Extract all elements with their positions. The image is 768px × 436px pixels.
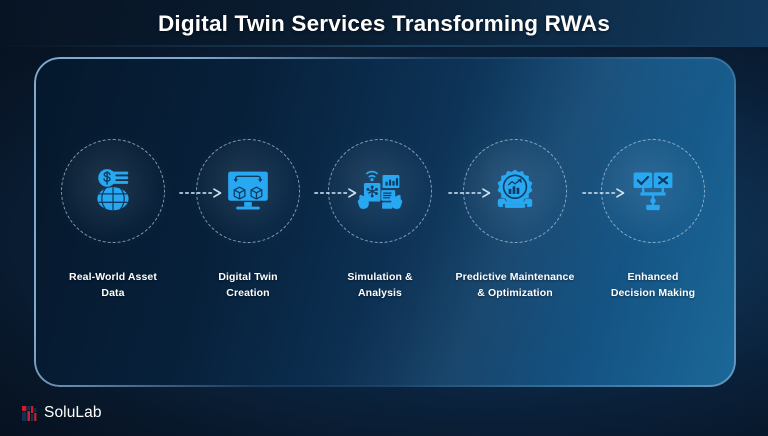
- process-step-1[interactable]: Real-World Asset Data: [51, 139, 175, 301]
- process-step-2[interactable]: Digital Twin Creation: [186, 139, 310, 301]
- step-3-ring: [328, 139, 432, 243]
- brand-logo[interactable]: SoluLab: [22, 404, 102, 422]
- step-1-label-line2: Data: [101, 287, 124, 299]
- step-1-label-line1: Real-World Asset: [69, 271, 157, 283]
- solulab-logo-icon: [22, 405, 38, 422]
- page-title: Digital Twin Services Transforming RWAs: [158, 11, 610, 37]
- process-step-5[interactable]: Enhanced Decision Making: [591, 139, 715, 301]
- gear-chart-wrench-icon: [488, 164, 542, 218]
- step-3-label: Simulation & Analysis: [347, 269, 412, 301]
- step-4-label: Predictive Maintenance & Optimization: [456, 269, 575, 301]
- step-2-label-line2: Creation: [226, 287, 269, 299]
- step-2-label: Digital Twin Creation: [218, 269, 277, 301]
- step-2-label-line1: Digital Twin: [218, 271, 277, 283]
- step-3-label-line2: Analysis: [358, 287, 402, 299]
- step-3-label-line1: Simulation &: [347, 271, 412, 283]
- step-5-label-line2: Decision Making: [611, 287, 695, 299]
- step-5-ring: [601, 139, 705, 243]
- title-bar: Digital Twin Services Transforming RWAs: [0, 0, 768, 47]
- step-4-ring: [463, 139, 567, 243]
- globe-dollar-coins-icon: [86, 164, 140, 218]
- process-step-4[interactable]: Predictive Maintenance & Optimization: [453, 139, 577, 301]
- step-4-label-line2: & Optimization: [477, 287, 552, 299]
- decision-tree-check-cross-icon: [626, 164, 680, 218]
- step-2-ring: [196, 139, 300, 243]
- tablet-hands-molecule-chart-icon: [353, 164, 407, 218]
- step-5-label-line1: Enhanced: [628, 271, 679, 283]
- step-1-ring: [61, 139, 165, 243]
- brand-logo-text: SoluLab: [44, 404, 102, 422]
- step-5-label: Enhanced Decision Making: [611, 269, 695, 301]
- step-4-label-line1: Predictive Maintenance: [456, 271, 575, 283]
- process-flow-diagram: Real-World Asset Data: [34, 57, 736, 387]
- monitor-3d-cubes-sync-icon: [221, 164, 275, 218]
- step-1-label: Real-World Asset Data: [69, 269, 157, 301]
- process-step-3[interactable]: Simulation & Analysis: [318, 139, 442, 301]
